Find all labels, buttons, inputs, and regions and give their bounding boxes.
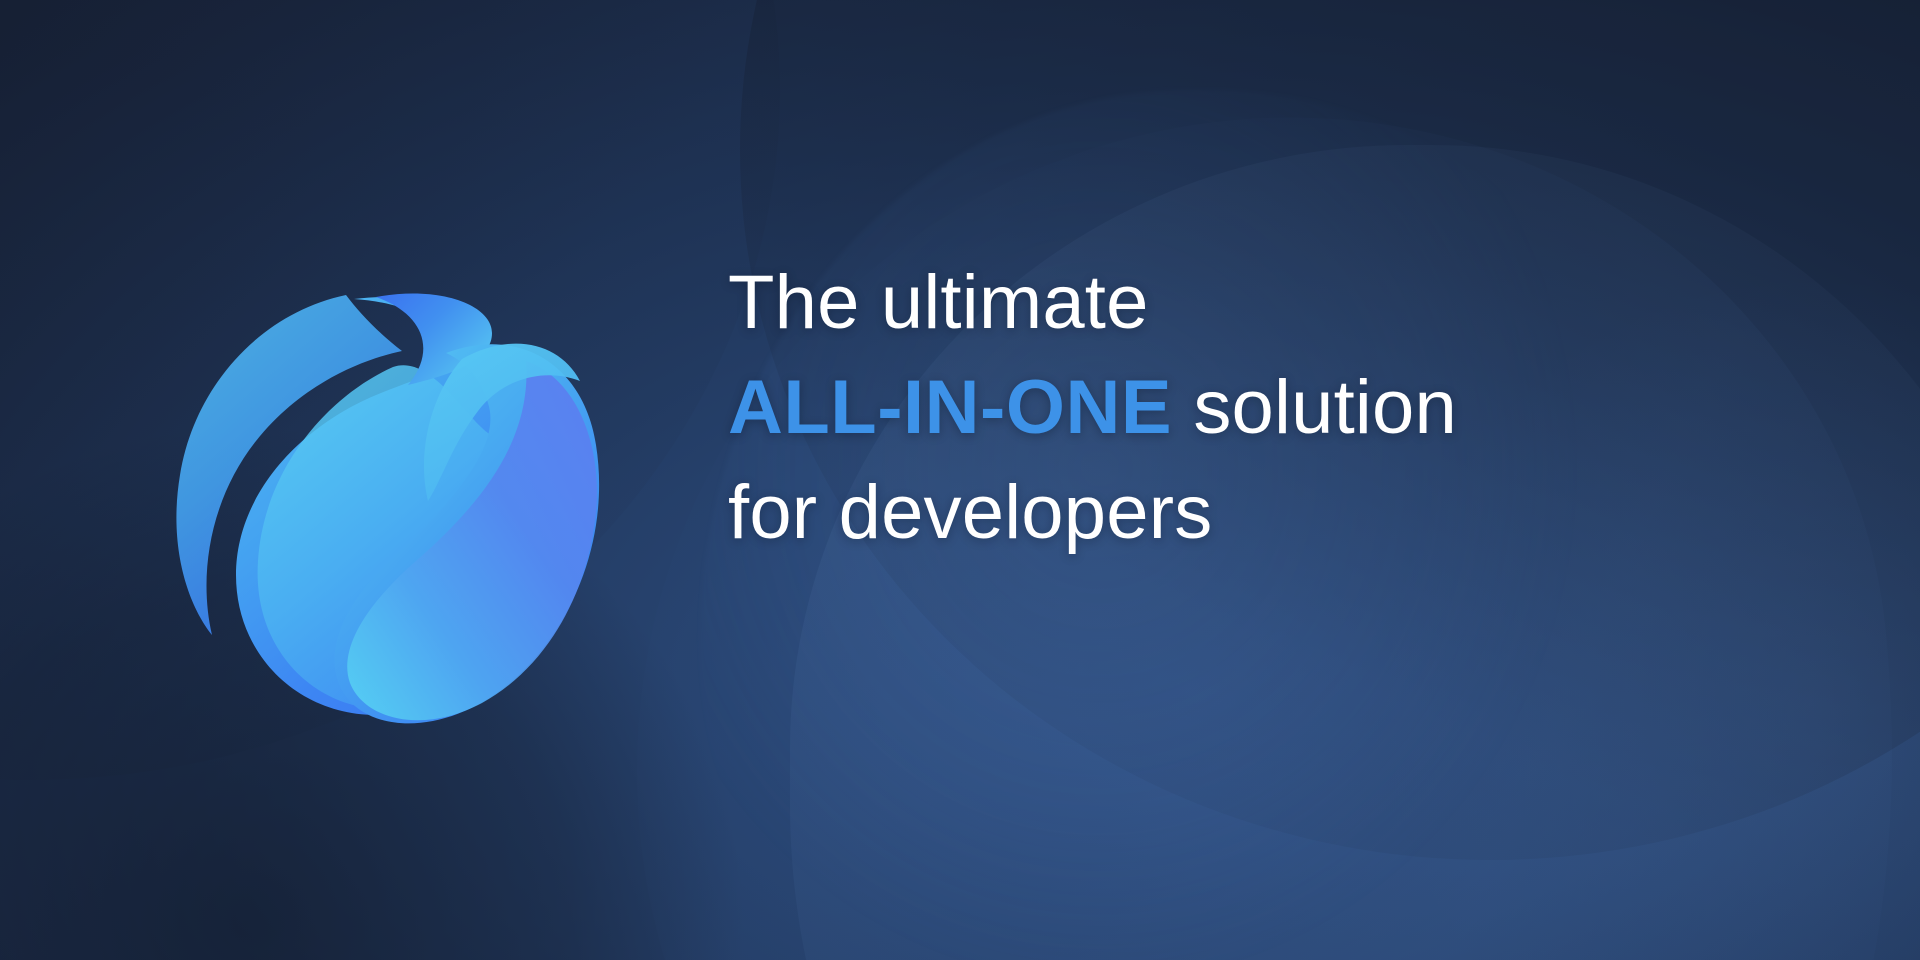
headline-line-1-text: The ultimate bbox=[728, 260, 1149, 345]
headline-line-2-rest: solution bbox=[1172, 365, 1457, 450]
brand-logo bbox=[140, 275, 620, 745]
headline-line-2: ALL-IN-ONE solution bbox=[728, 355, 1858, 460]
orb-logo-icon bbox=[140, 275, 620, 745]
headline-block: The ultimate ALL-IN-ONE solution for dev… bbox=[728, 250, 1858, 565]
headline-line-1: The ultimate bbox=[728, 250, 1858, 355]
headline-line-3-text: for developers bbox=[728, 470, 1212, 555]
headline-line-3: for developers bbox=[728, 460, 1858, 565]
banner-content: The ultimate ALL-IN-ONE solution for dev… bbox=[0, 0, 1920, 960]
headline-accent-all-in-one: ALL-IN-ONE bbox=[728, 365, 1172, 450]
hero-banner: The ultimate ALL-IN-ONE solution for dev… bbox=[0, 0, 1920, 960]
